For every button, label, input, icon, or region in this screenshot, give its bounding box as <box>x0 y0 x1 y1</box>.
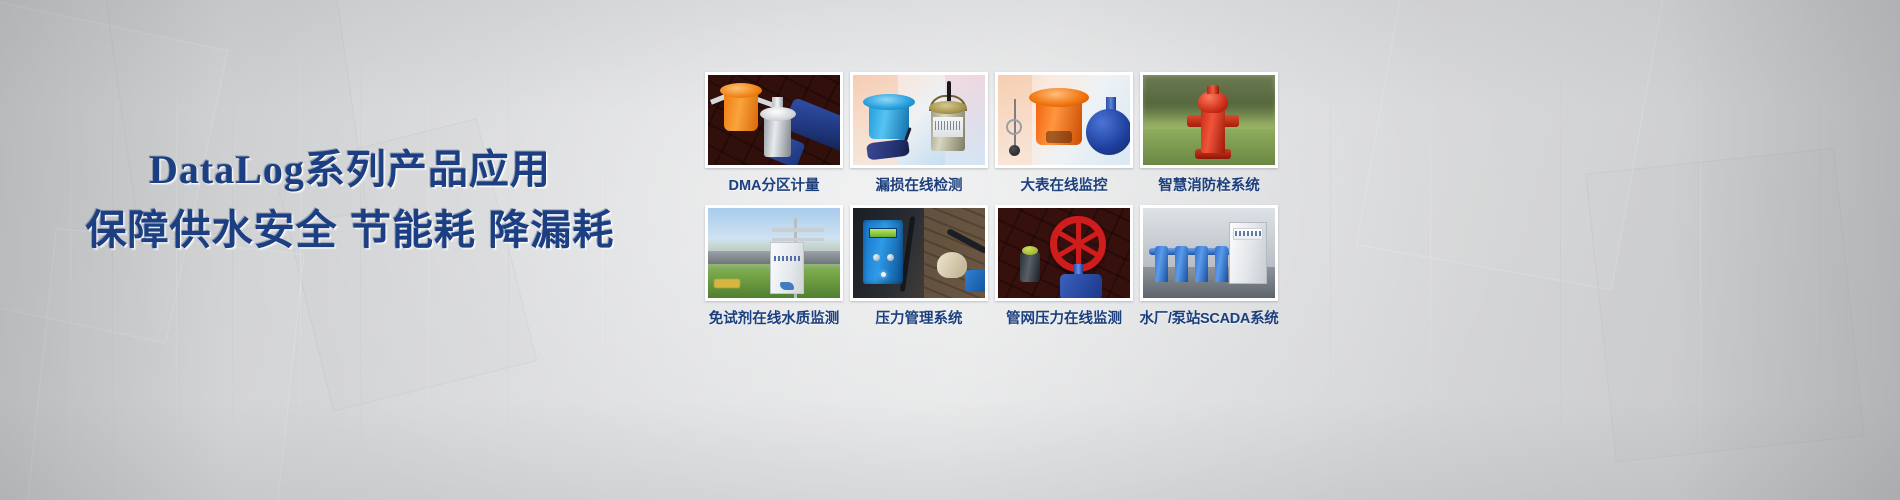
product-card-label: 智慧消防栓系统 <box>1158 177 1260 195</box>
smart-fire-hydrant-system-photo <box>1143 75 1275 165</box>
pipe-network-pressure-monitoring-photo <box>998 208 1130 298</box>
product-card-scada-system[interactable]: 水厂/泵站SCADA系统 <box>1140 205 1278 328</box>
headline-line-2: 保障供水安全 节能耗 降漏耗 <box>0 207 700 253</box>
waterworks-pump-station-scada-photo <box>1143 208 1275 298</box>
product-card-label: 大表在线监控 <box>1021 177 1108 195</box>
leak-online-detection-photo <box>853 75 985 165</box>
product-card-label: 管网压力在线监测 <box>1006 310 1122 328</box>
product-card-leak-online-detection[interactable]: 漏损在线检测 <box>850 72 988 195</box>
product-cards-row-1: DMA分区计量 漏损在线检测 <box>705 72 1285 195</box>
headline-line-1: DataLog系列产品应用 <box>0 148 700 192</box>
pressure-management-system-photo <box>853 208 985 298</box>
product-thumbnail-frame[interactable] <box>1140 72 1278 168</box>
product-card-dma-zone-metering[interactable]: DMA分区计量 <box>705 72 843 195</box>
product-thumbnail-frame[interactable] <box>995 72 1133 168</box>
large-meter-online-monitoring-photo <box>998 75 1130 165</box>
product-thumbnail-frame[interactable] <box>995 205 1133 301</box>
product-thumbnail-frame[interactable] <box>850 72 988 168</box>
product-thumbnail-frame[interactable] <box>850 205 988 301</box>
product-cards-grid: DMA分区计量 漏损在线检测 <box>705 72 1285 328</box>
product-card-label: 漏损在线检测 <box>876 177 963 195</box>
product-card-smart-fire-hydrant[interactable]: 智慧消防栓系统 <box>1140 72 1278 195</box>
product-thumbnail-frame[interactable] <box>705 205 843 301</box>
product-card-label: 压力管理系统 <box>876 310 963 328</box>
dma-zone-metering-photo <box>708 75 840 165</box>
product-cards-row-2: 免试剂在线水质监测 压力管理系统 <box>705 205 1285 328</box>
product-card-pipe-network-pressure[interactable]: 管网压力在线监测 <box>995 205 1133 328</box>
product-card-large-meter-monitoring[interactable]: 大表在线监控 <box>995 72 1133 195</box>
product-thumbnail-frame[interactable] <box>705 72 843 168</box>
product-card-label: 水厂/泵站SCADA系统 <box>1140 310 1279 328</box>
product-card-water-quality-monitoring[interactable]: 免试剂在线水质监测 <box>705 205 843 328</box>
product-card-label: 免试剂在线水质监测 <box>709 310 840 328</box>
reagent-free-water-quality-monitoring-photo <box>708 208 840 298</box>
product-application-banner: DataLog系列产品应用 保障供水安全 节能耗 降漏耗 DMA分区计量 <box>0 0 1900 500</box>
product-card-pressure-management[interactable]: 压力管理系统 <box>850 205 988 328</box>
product-card-label: DMA分区计量 <box>728 177 819 195</box>
product-thumbnail-frame[interactable] <box>1140 205 1278 301</box>
